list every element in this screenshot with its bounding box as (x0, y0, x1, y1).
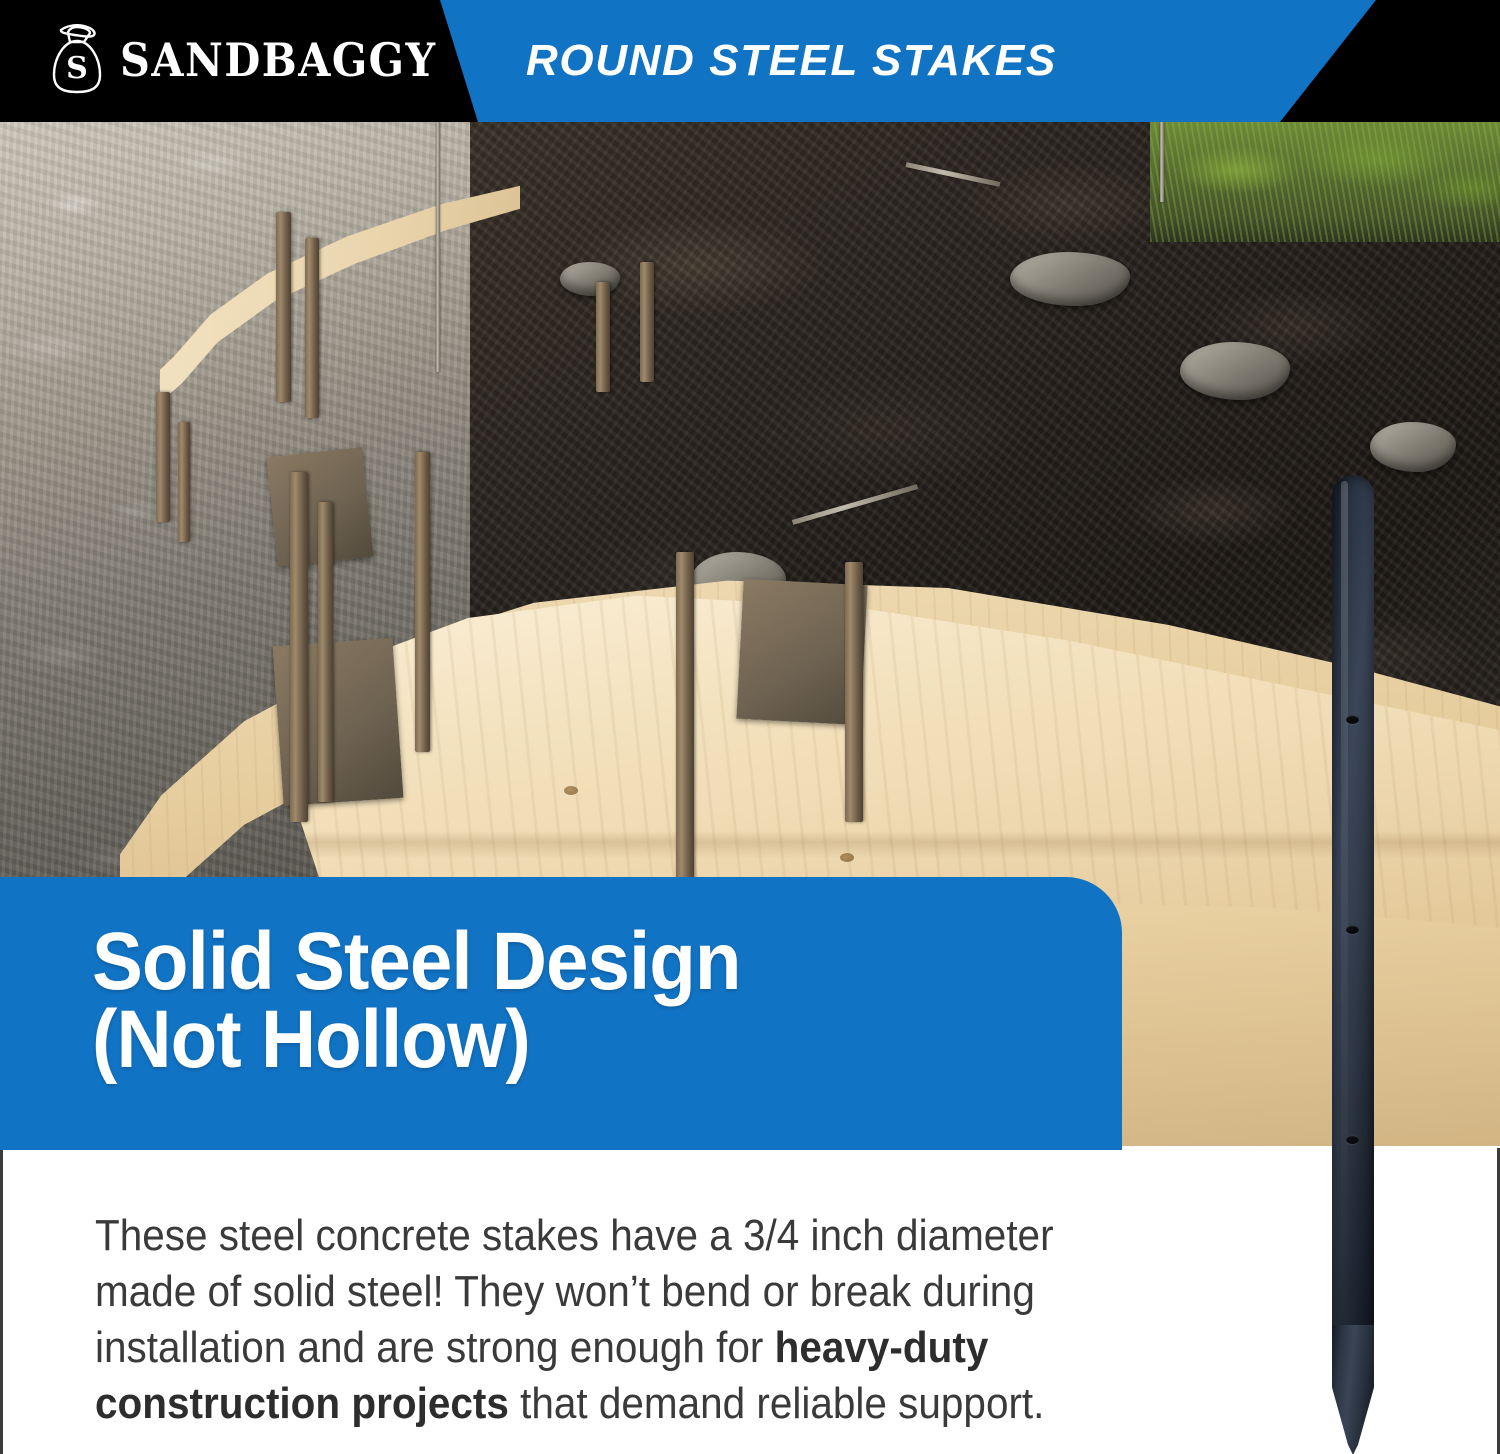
stake-hole (1346, 715, 1359, 724)
form-stake (305, 238, 319, 418)
form-stake (640, 262, 654, 382)
rebar-rod (436, 122, 440, 372)
page-title: Solid Steel Design (Not Hollow) (92, 923, 1050, 1079)
stake-hole (1346, 925, 1359, 934)
form-board-distant (160, 172, 520, 402)
form-stake (178, 422, 190, 542)
top-header-bar: S SANDBAGGY ROUND STEEL STAKES (0, 0, 1500, 122)
wood-knot (840, 853, 854, 862)
headline-line-2: (Not Hollow) (92, 1001, 1050, 1079)
form-stake (596, 282, 610, 392)
wood-knot (564, 786, 578, 795)
form-stake (318, 502, 333, 802)
form-stake (276, 212, 291, 402)
form-stake (845, 562, 863, 822)
form-stake (415, 452, 430, 752)
brand-name: SANDBAGGY (120, 37, 437, 83)
headline-line-1: Solid Steel Design (92, 923, 1050, 1001)
body-text-part2: that demand reliable support. (509, 1379, 1045, 1428)
description-section: These steel concrete stakes have a 3/4 i… (0, 1148, 1500, 1454)
stake-shaft (1332, 475, 1374, 1350)
round-steel-stake (1332, 475, 1374, 1450)
rebar-rod (792, 484, 918, 525)
banner-title: ROUND STEEL STAKES (526, 36, 1057, 86)
form-stake (290, 472, 308, 822)
rebar-rod (906, 162, 1001, 187)
sandbag-icon: S (48, 24, 106, 96)
infographic-page: S SANDBAGGY ROUND STEEL STAKES Solid Ste… (0, 0, 1500, 1454)
form-stake (156, 392, 170, 522)
sandbag-letter: S (66, 51, 88, 86)
stake-hole (1346, 1135, 1359, 1144)
stake-pointed-tip (1332, 1325, 1374, 1454)
rebar-rod (1160, 122, 1164, 202)
body-copy: These steel concrete stakes have a 3/4 i… (95, 1208, 1112, 1432)
headline-block: Solid Steel Design (Not Hollow) (0, 877, 1122, 1150)
brand-logo[interactable]: S SANDBAGGY (48, 24, 437, 96)
